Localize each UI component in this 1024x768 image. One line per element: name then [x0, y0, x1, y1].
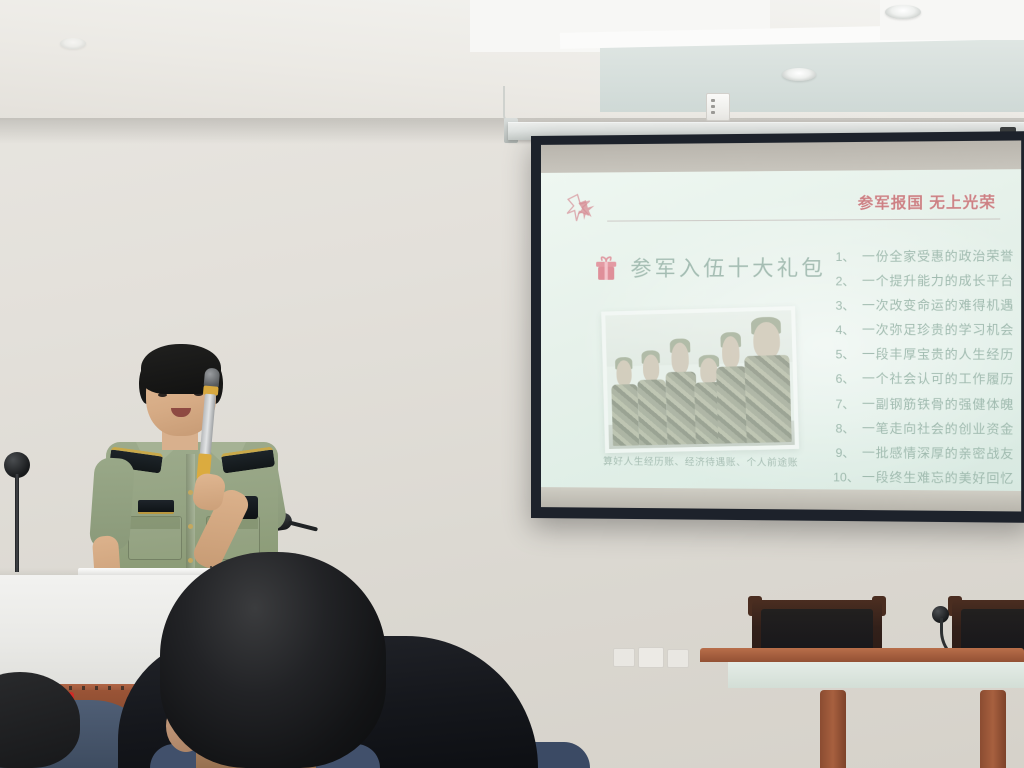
section-title: 参军入伍十大礼包 — [630, 252, 826, 283]
podium-microphone — [4, 452, 30, 572]
audience-head-foreground — [160, 552, 386, 768]
list-item: 2、 一个提升能力的成长平台 — [833, 270, 1011, 295]
downlight-icon — [885, 5, 921, 19]
slide-body: 参军入伍十大礼包 — [541, 229, 1021, 491]
name-badge — [138, 500, 174, 514]
list-item-text: 一笔走向社会的创业资金 — [862, 417, 1014, 437]
table-leg — [820, 690, 846, 768]
list-item: 5、 一段丰厚宝贵的人生经历 — [833, 344, 1011, 369]
list-item-text: 一段终生难忘的美好回忆 — [862, 466, 1014, 487]
photo-figure — [743, 321, 791, 443]
list-item-number: 2、 — [833, 272, 855, 289]
list-item-number: 6、 — [833, 370, 855, 387]
list-item-text: 一个社会认可的工作履历 — [862, 368, 1014, 388]
list-item: 7、 一副钢筋铁骨的强健体魄 — [833, 393, 1011, 418]
list-item-number: 7、 — [833, 395, 855, 412]
list-item-number: 9、 — [833, 444, 855, 461]
list-item: 9、 一批感情深厚的亲密战友 — [833, 441, 1011, 467]
list-item-text: 一副钢筋铁骨的强健体魄 — [862, 393, 1014, 413]
wall-outlet[interactable] — [667, 649, 689, 668]
screen-top-band — [541, 140, 1021, 172]
uniform-pocket — [128, 516, 182, 560]
header-rule — [607, 218, 1000, 221]
list-item: 8、 一笔走向社会的创业资金 — [833, 417, 1011, 442]
table-front-panel — [728, 662, 1024, 688]
table-leg — [980, 690, 1006, 768]
list-item: 3、 一次改变命运的难得机遇 — [833, 294, 1011, 319]
projection-screen: 参军报国 无上光荣 — [531, 131, 1024, 523]
list-item-number: 4、 — [833, 321, 855, 338]
slide-header: 参军报国 无上光荣 — [565, 192, 1002, 229]
screen-surface: 参军报国 无上光荣 — [541, 140, 1021, 511]
list-item-text: 一次弥足珍贵的学习机会 — [862, 319, 1014, 338]
downlight-icon — [782, 68, 816, 81]
wall-switch[interactable] — [706, 93, 730, 121]
section-title-row: 参军入伍十大礼包 — [595, 252, 826, 283]
list-item-text: 一批感情深厚的亲密战友 — [862, 442, 1014, 462]
list-item: 6、 一个社会认可的工作履历 — [833, 368, 1011, 393]
photo-figure — [637, 354, 668, 446]
list-item-number: 5、 — [833, 346, 855, 363]
list-item: 10、 一段终生难忘的美好回忆 — [833, 466, 1011, 492]
list-item-text: 一个提升能力的成长平台 — [862, 270, 1014, 290]
star-burst-icon — [565, 193, 603, 223]
list-item-number: 8、 — [833, 419, 855, 436]
list-item-number: 3、 — [833, 297, 855, 314]
list-item: 1、 一份全家受惠的政治荣誉 — [833, 245, 1011, 270]
screen-bottom-band — [541, 487, 1021, 511]
wall-outlet[interactable] — [638, 647, 664, 668]
gift-box-icon — [595, 255, 617, 280]
list-item: 4、 一次弥足珍贵的学习机会 — [833, 319, 1011, 344]
benefits-list: 1、 一份全家受惠的政治荣誉 2、 一个提升能力的成长平台 3、 一次改变命运的… — [833, 245, 1011, 492]
wall-outlet[interactable] — [613, 648, 635, 667]
list-item-text: 一次改变命运的难得机遇 — [862, 294, 1014, 314]
list-item-text: 一段丰厚宝贵的人生经历 — [862, 344, 1014, 364]
photo-figure — [611, 360, 640, 446]
conference-room-photo: 参军报国 无上光荣 — [0, 0, 1024, 768]
list-item-number: 10、 — [833, 468, 855, 485]
photo-figure — [665, 342, 698, 445]
slide-header-title: 参军报国 无上光荣 — [858, 191, 996, 213]
photo-caption: 算好人生经历账、经济待遇账、个人前途账 — [601, 453, 800, 468]
list-item-number: 1、 — [833, 248, 855, 265]
downlight-icon — [60, 38, 86, 49]
presentation-slide: 参军报国 无上光荣 — [541, 169, 1021, 491]
list-item-text: 一份全家受惠的政治荣誉 — [862, 245, 1014, 265]
slide-photo — [601, 306, 799, 453]
